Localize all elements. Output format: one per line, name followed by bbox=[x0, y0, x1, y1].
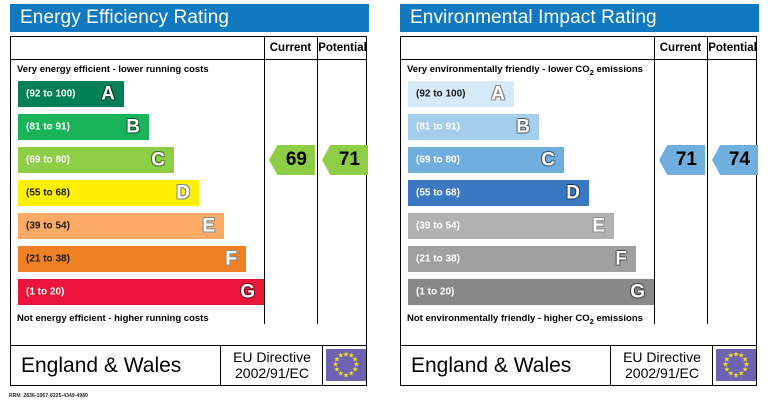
environmental-impact-panel: Environmental Impact Rating Current Pote… bbox=[392, 0, 767, 406]
environmental-band-f-range: (21 to 38) bbox=[416, 254, 460, 265]
environmental-caption-top-a: Very environmentally friendly - lower CO bbox=[407, 64, 590, 75]
energy-footer-directive: EU Directive 2002/91/EC bbox=[224, 349, 320, 383]
environmental-band-g-range: (1 to 20) bbox=[416, 287, 454, 298]
environmental-band-e: (39 to 54) E bbox=[408, 213, 614, 239]
environmental-band-b-letter: B bbox=[516, 118, 530, 137]
environmental-caption-bottom-a: Not environmentally friendly - higher CO bbox=[407, 313, 590, 324]
energy-caption-top: Very energy efficient - lower running co… bbox=[17, 64, 262, 75]
environmental-band-a-range: (92 to 100) bbox=[416, 89, 465, 100]
environmental-footer-sep-2 bbox=[712, 346, 713, 385]
energy-band-b: (81 to 91) B bbox=[18, 114, 149, 140]
energy-directive-line2: 2002/91/EC bbox=[224, 366, 320, 383]
environmental-footer-directive: EU Directive 2002/91/EC bbox=[614, 349, 710, 383]
environmental-band-f-letter: F bbox=[615, 250, 627, 269]
environmental-footer-sep-1 bbox=[610, 346, 611, 385]
energy-efficiency-table: Current Potential Very energy efficient … bbox=[10, 36, 367, 346]
energy-footer-region: England & Wales bbox=[21, 354, 181, 378]
environmental-band-g: (1 to 20) G bbox=[408, 279, 654, 305]
energy-body-sep-potential bbox=[317, 60, 318, 324]
energy-band-f-range: (21 to 38) bbox=[26, 254, 70, 265]
environmental-caption-bottom-b: emissions bbox=[594, 313, 643, 324]
energy-band-a-letter: A bbox=[101, 85, 115, 104]
energy-body-sep-current bbox=[264, 60, 265, 324]
environmental-band-b-range: (81 to 91) bbox=[416, 122, 460, 133]
eu-star-icon: ★ bbox=[338, 352, 344, 359]
environmental-caption-top: Very environmentally friendly - lower CO… bbox=[407, 64, 652, 77]
environmental-caption-bottom: Not environmentally friendly - higher CO… bbox=[407, 313, 652, 326]
energy-band-e-range: (39 to 54) bbox=[26, 221, 70, 232]
environmental-header-row: Current Potential bbox=[401, 37, 756, 60]
eu-star-icon: ★ bbox=[728, 352, 734, 359]
energy-band-b-letter: B bbox=[126, 118, 140, 137]
energy-footer-sep-2 bbox=[322, 346, 323, 385]
environmental-current-rating-arrow: 71 bbox=[659, 145, 705, 175]
environmental-current-column-header: Current bbox=[654, 37, 707, 60]
environmental-directive-line1: EU Directive bbox=[614, 349, 710, 366]
energy-efficiency-title: Energy Efficiency Rating bbox=[20, 7, 229, 29]
energy-band-g-letter: G bbox=[240, 283, 255, 302]
environmental-band-d-letter: D bbox=[566, 184, 580, 203]
energy-band-a-range: (92 to 100) bbox=[26, 89, 75, 100]
environmental-band-e-range: (39 to 54) bbox=[416, 221, 460, 232]
environmental-footer: England & Wales EU Directive 2002/91/EC … bbox=[400, 346, 757, 386]
eu-flag-icon-left: ★★★★★★★★★★★★ bbox=[326, 349, 366, 381]
environmental-band-d-range: (55 to 68) bbox=[416, 188, 460, 199]
energy-potential-rating-arrow: 71 bbox=[322, 145, 368, 175]
environmental-caption-top-b: emissions bbox=[594, 64, 643, 75]
energy-efficiency-panel: Energy Efficiency Rating Current Potenti… bbox=[2, 0, 377, 406]
energy-efficiency-title-bar: Energy Efficiency Rating bbox=[10, 4, 369, 32]
energy-band-g-range: (1 to 20) bbox=[26, 287, 64, 298]
rrn-reference-number: RRN: 2836-1067-8225-4349-4980 bbox=[9, 393, 88, 399]
energy-efficiency-header-row: Current Potential bbox=[11, 37, 366, 60]
environmental-band-f: (21 to 38) F bbox=[408, 246, 636, 272]
environmental-directive-line2: 2002/91/EC bbox=[614, 366, 710, 383]
environmental-impact-title: Environmental Impact Rating bbox=[410, 7, 657, 29]
energy-band-c-range: (69 to 80) bbox=[26, 155, 70, 166]
environmental-header-sep-current bbox=[654, 37, 655, 60]
environmental-band-c-letter: C bbox=[541, 151, 555, 170]
eu-flag-icon-right: ★★★★★★★★★★★★ bbox=[716, 349, 756, 381]
energy-band-d-letter: D bbox=[176, 184, 190, 203]
energy-current-rating-arrow: 69 bbox=[269, 145, 315, 175]
environmental-impact-title-bar: Environmental Impact Rating bbox=[400, 4, 759, 32]
environmental-band-c: (69 to 80) C bbox=[408, 147, 564, 173]
energy-footer-sep-1 bbox=[220, 346, 221, 385]
energy-caption-bottom: Not energy efficient - higher running co… bbox=[17, 313, 262, 324]
environmental-impact-table: Current Potential Very environmentally f… bbox=[400, 36, 757, 346]
environmental-body-sep-current bbox=[654, 60, 655, 324]
energy-band-f-letter: F bbox=[225, 250, 237, 269]
energy-current-column-header: Current bbox=[264, 37, 317, 60]
energy-footer: England & Wales EU Directive 2002/91/EC … bbox=[10, 346, 367, 386]
environmental-header-sep-potential bbox=[707, 37, 708, 60]
energy-band-b-range: (81 to 91) bbox=[26, 122, 70, 133]
environmental-potential-rating-arrow: 74 bbox=[712, 145, 758, 175]
energy-band-d-range: (55 to 68) bbox=[26, 188, 70, 199]
environmental-band-e-letter: E bbox=[592, 217, 605, 236]
energy-band-d: (55 to 68) D bbox=[18, 180, 199, 206]
epc-chart-page: Energy Efficiency Rating Current Potenti… bbox=[0, 0, 768, 406]
energy-band-c: (69 to 80) C bbox=[18, 147, 174, 173]
environmental-band-d: (55 to 68) D bbox=[408, 180, 589, 206]
environmental-band-a-letter: A bbox=[491, 85, 505, 104]
energy-band-a: (92 to 100) A bbox=[18, 81, 124, 107]
energy-band-e-letter: E bbox=[202, 217, 215, 236]
energy-band-f: (21 to 38) F bbox=[18, 246, 246, 272]
environmental-band-list: (92 to 100) A (81 to 91) B (69 to 80) C … bbox=[408, 81, 653, 311]
energy-directive-line1: EU Directive bbox=[224, 349, 320, 366]
environmental-band-b: (81 to 91) B bbox=[408, 114, 539, 140]
energy-band-c-letter: C bbox=[151, 151, 165, 170]
energy-potential-column-header: Potential bbox=[317, 37, 368, 60]
environmental-footer-region: England & Wales bbox=[411, 354, 571, 378]
energy-band-g: (1 to 20) G bbox=[18, 279, 264, 305]
environmental-band-g-letter: G bbox=[630, 283, 645, 302]
energy-band-list: (92 to 100) A (81 to 91) B (69 to 80) C … bbox=[18, 81, 263, 311]
environmental-potential-column-header: Potential bbox=[707, 37, 758, 60]
energy-band-e: (39 to 54) E bbox=[18, 213, 224, 239]
environmental-band-c-range: (69 to 80) bbox=[416, 155, 460, 166]
environmental-band-a: (92 to 100) A bbox=[408, 81, 514, 107]
environmental-body-sep-potential bbox=[707, 60, 708, 324]
energy-header-sep-potential bbox=[317, 37, 318, 60]
energy-header-sep-current bbox=[264, 37, 265, 60]
